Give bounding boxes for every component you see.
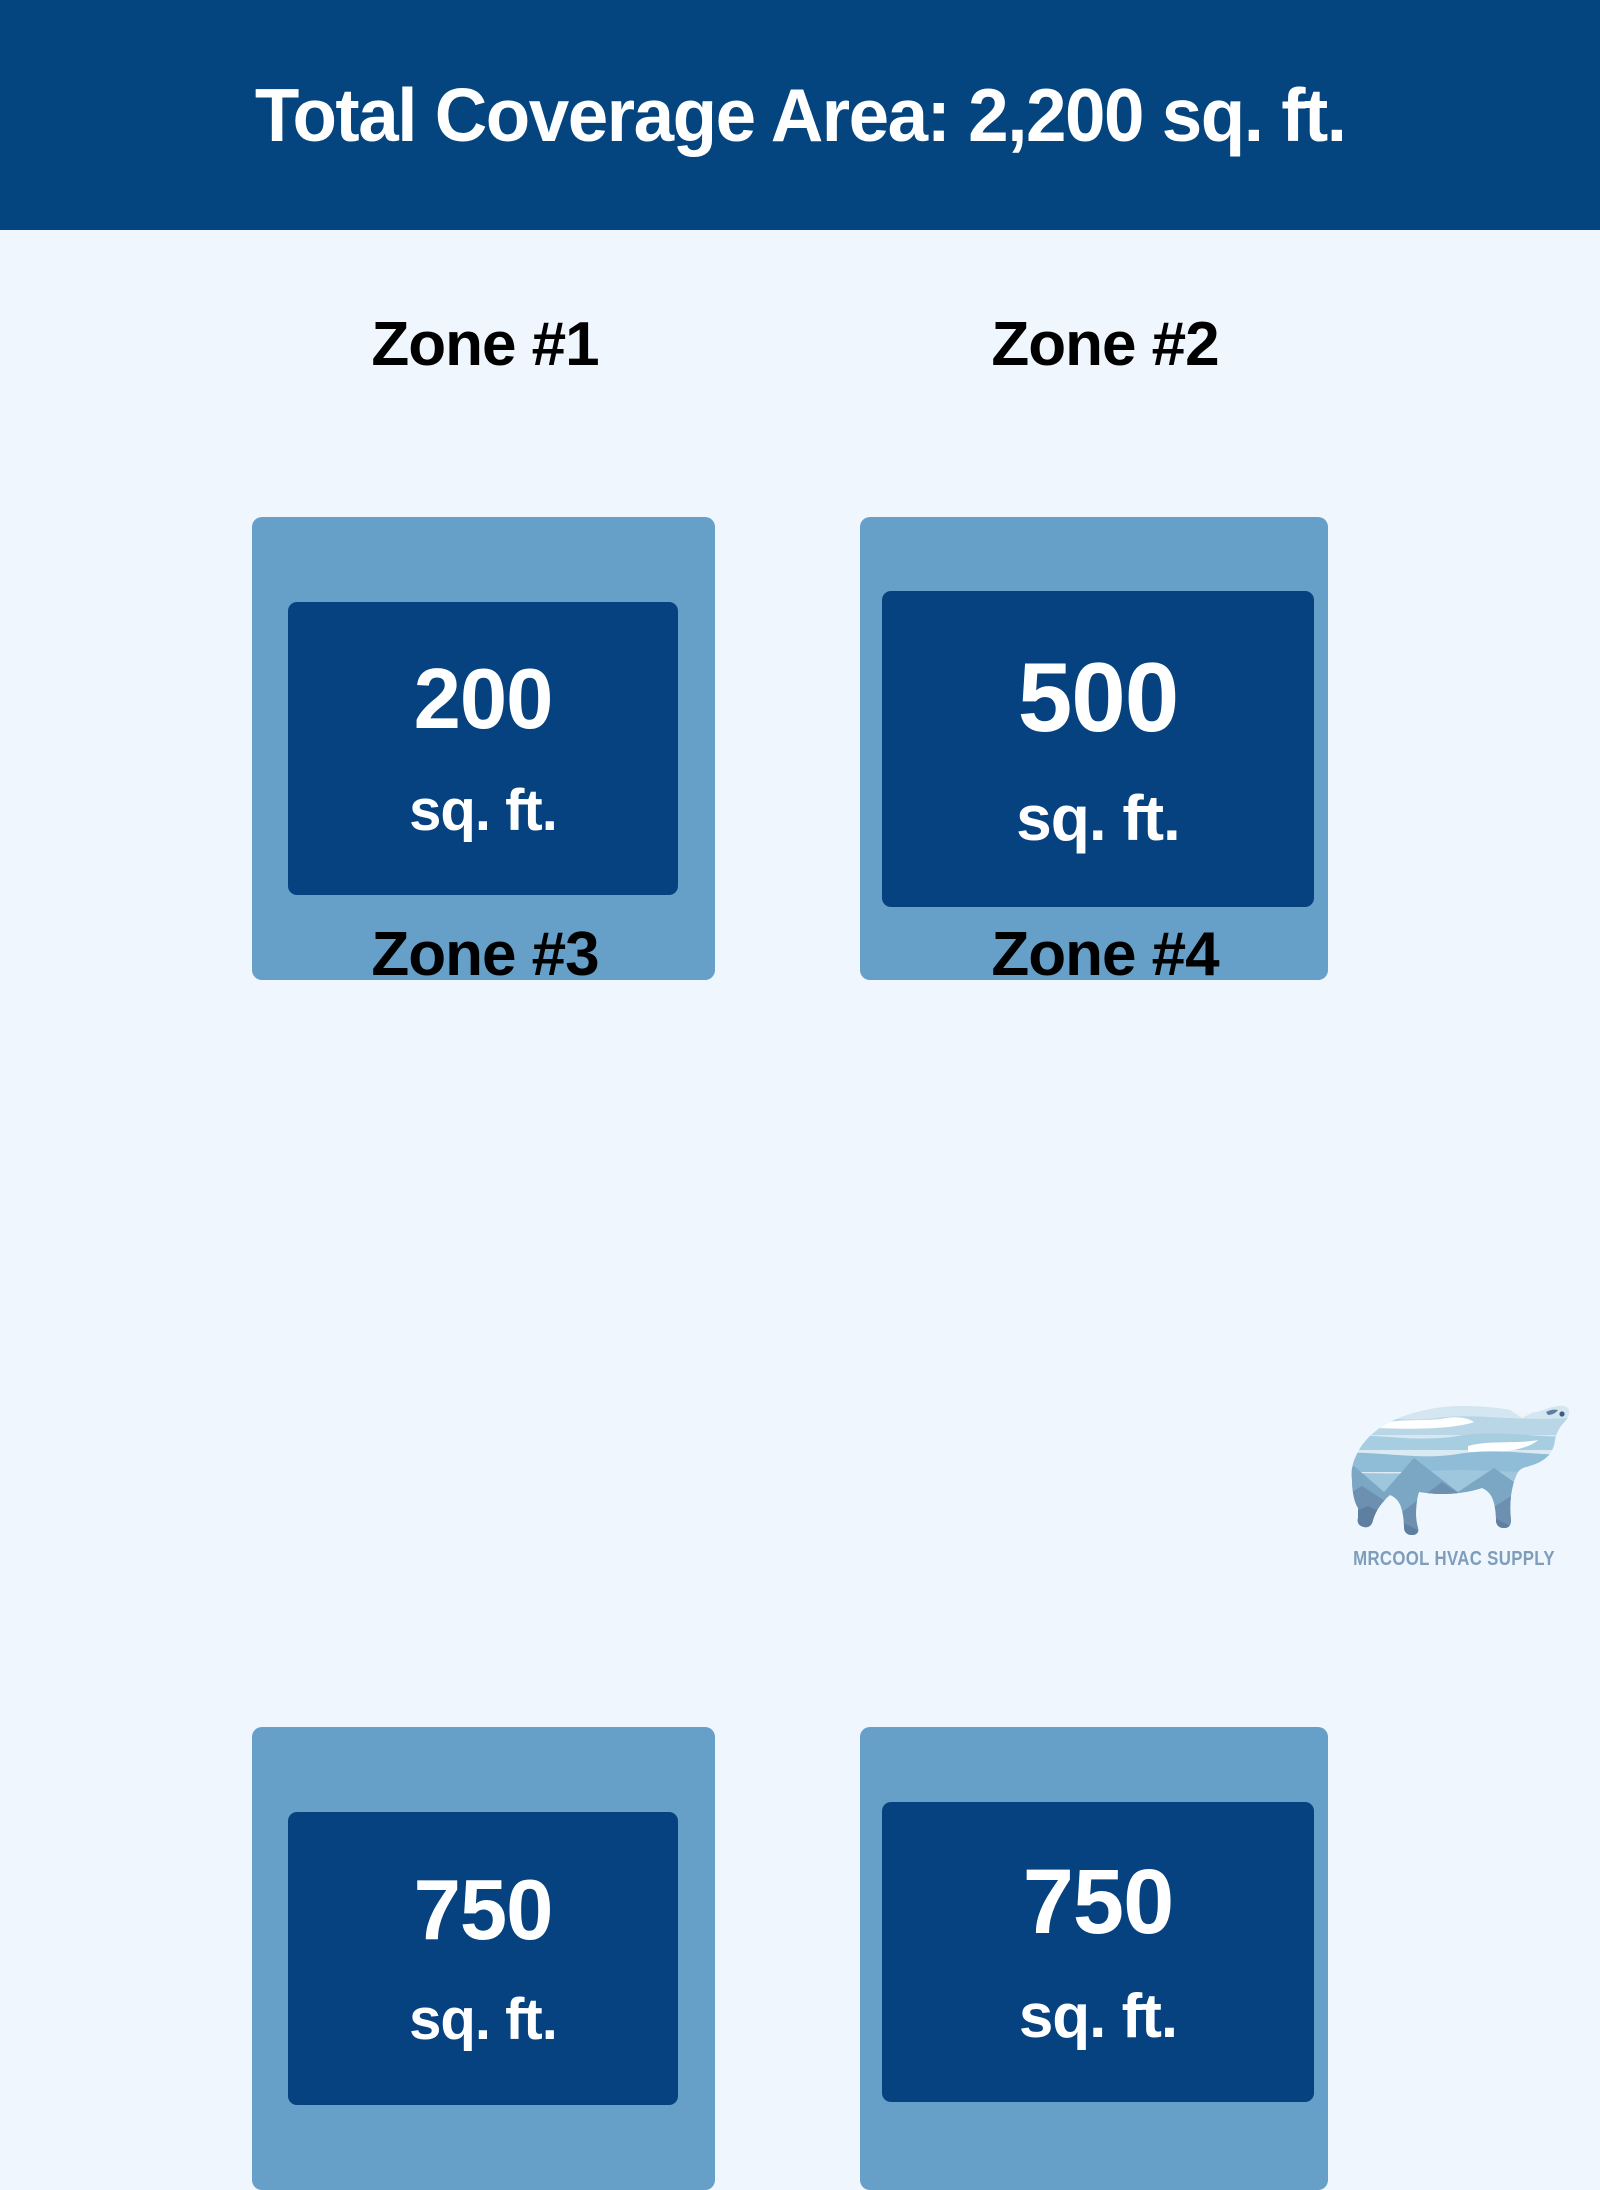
zone-1-value-box: 200 sq. ft. bbox=[288, 602, 678, 895]
zone-1-label: Zone #1 bbox=[170, 314, 800, 376]
zone-4-label: Zone #4 bbox=[790, 924, 1420, 986]
header-banner: Total Coverage Area: 2,200 sq. ft. bbox=[0, 0, 1600, 230]
zone-2-value: 500 bbox=[1018, 648, 1179, 746]
zone-3-card: 750 sq. ft. bbox=[252, 1727, 715, 2190]
zone-2-value-box: 500 sq. ft. bbox=[882, 591, 1314, 907]
brand-name: MRCOOL HVAC SUPPLY bbox=[1340, 1548, 1568, 1571]
page-title: Total Coverage Area: 2,200 sq. ft. bbox=[255, 78, 1346, 153]
zone-2-card: 500 sq. ft. bbox=[860, 517, 1328, 980]
zone-3-value-box: 750 sq. ft. bbox=[288, 1812, 678, 2105]
zone-3-value: 750 bbox=[414, 1868, 553, 1953]
zone-2-label: Zone #2 bbox=[790, 314, 1420, 376]
zone-4-card: 750 sq. ft. bbox=[860, 1727, 1328, 2190]
zone-1-unit: sq. ft. bbox=[409, 782, 557, 840]
zone-1-card: 200 sq. ft. bbox=[252, 517, 715, 980]
zone-3-label: Zone #3 bbox=[170, 924, 800, 986]
zone-1-value: 200 bbox=[414, 657, 553, 742]
brand-logo: MRCOOL HVAC SUPPLY bbox=[1318, 1380, 1590, 1590]
zone-3-unit: sq. ft. bbox=[409, 1991, 557, 2049]
polar-bear-icon bbox=[1318, 1380, 1590, 1545]
zone-4-unit: sq. ft. bbox=[1019, 1986, 1177, 2048]
zone-4-value: 750 bbox=[1023, 1856, 1174, 1948]
zone-4-value-box: 750 sq. ft. bbox=[882, 1802, 1314, 2102]
zone-2-unit: sq. ft. bbox=[1016, 786, 1180, 850]
